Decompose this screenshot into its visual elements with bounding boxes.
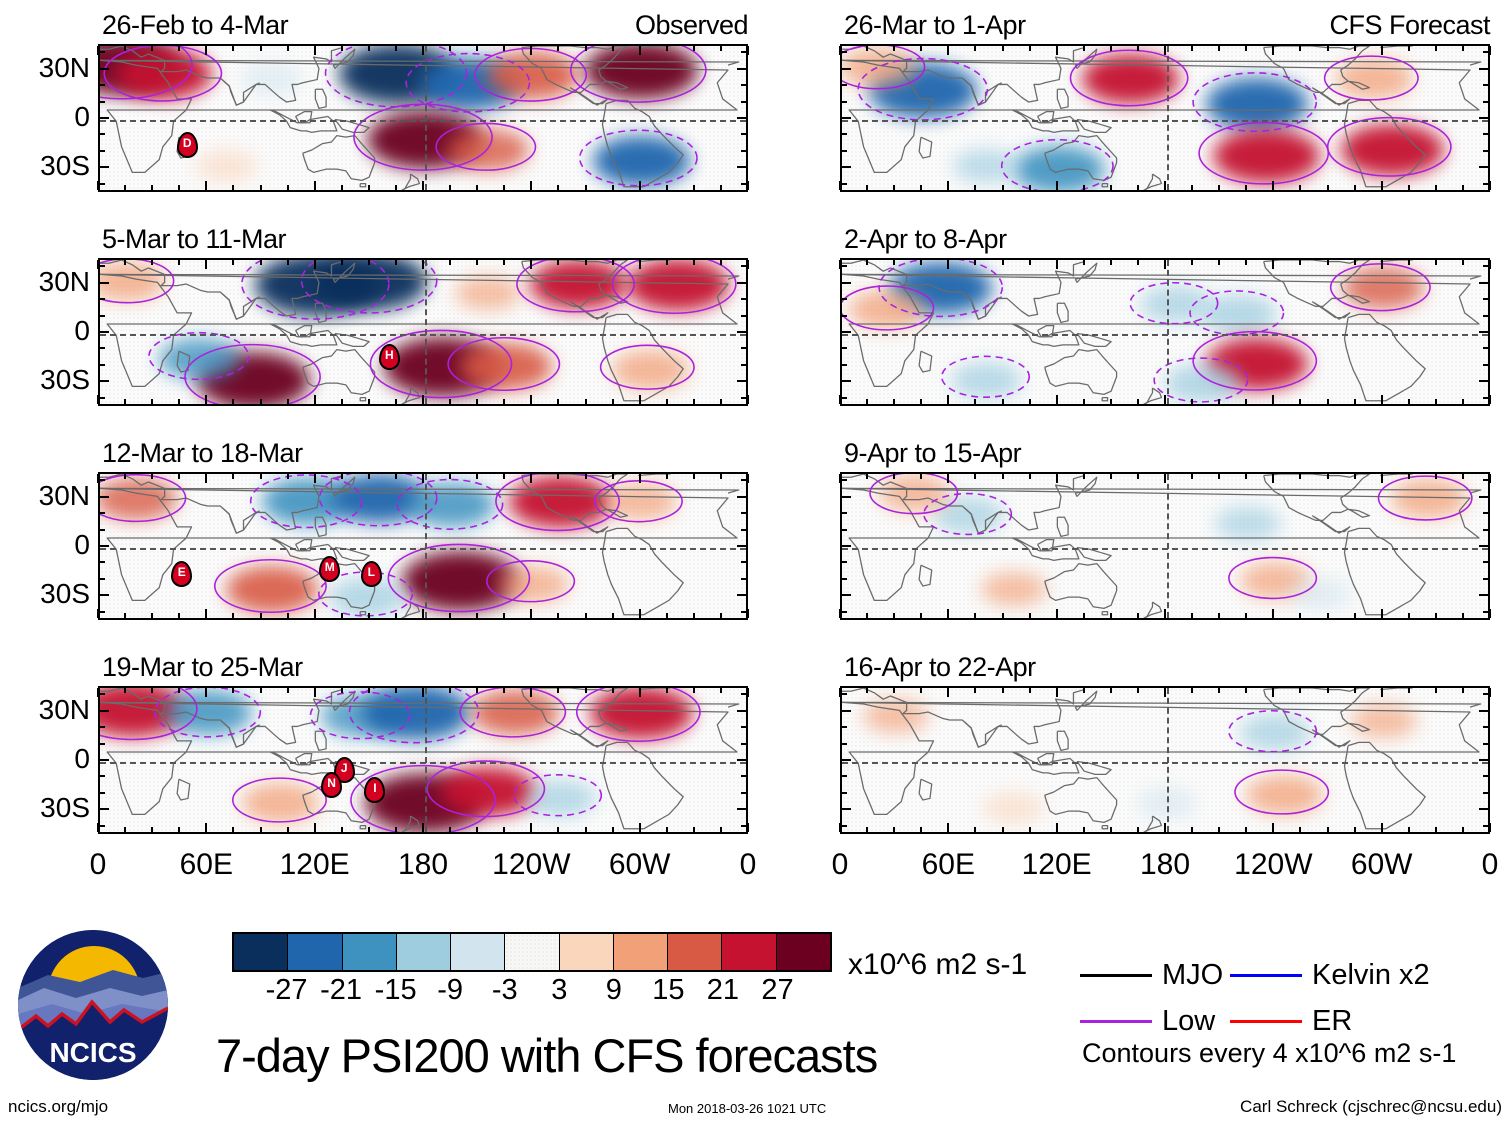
y-axis-tick [1479,380,1488,382]
y-axis-tick [100,578,105,580]
x-axis-tick [449,613,451,618]
x-axis-tick [839,823,841,832]
y-axis-tick [100,743,105,745]
x-axis-tick [920,185,922,190]
x-axis-tick [1327,399,1329,404]
x-axis-tick [1110,613,1112,618]
y-axis-tick [737,710,746,712]
x-axis-tick [893,185,895,190]
x-axis-tick [1381,474,1383,483]
x-axis-tick [612,185,614,190]
x-axis-tick [1110,688,1112,693]
x-axis-tick [151,827,153,832]
x-axis-tick [124,688,126,693]
x-axis-tick [839,395,841,404]
equator-line [842,762,1488,764]
x-axis-tick [893,474,895,479]
x-axis-tick [693,613,695,618]
x-axis-tick [1299,185,1301,190]
y-axis-tick [100,101,105,103]
map-panel[interactable]: JNI [98,686,748,834]
y-axis-tick [741,529,746,531]
colorbar-tick-label: 21 [707,974,739,1007]
x-axis-tick [1354,613,1356,618]
x-axis-tick [1327,185,1329,190]
x-axis-tick [1245,260,1247,265]
x-axis-tick [693,688,695,693]
colorbar-tick-labels: -27-21-15-9-339152127 [232,972,832,1012]
x-axis-tick [1489,823,1491,832]
x-axis-tick [666,827,668,832]
x-axis-tick [1137,399,1139,404]
x-axis-tick [747,260,749,269]
x-axis-tick [1137,688,1139,693]
x-axis-tick [666,260,668,265]
dateline [425,260,427,404]
x-axis-tick [1489,474,1491,483]
y-axis-tick [100,775,105,777]
x-axis-tick [287,474,289,479]
map-panel[interactable]: EML [98,472,748,620]
y-axis-tick [1483,84,1488,86]
page-title: 7-day PSI200 with CFS forecasts [216,1028,877,1083]
y-axis-tick [1483,693,1488,695]
x-axis-tick-label: 180 [363,848,483,882]
x-axis-tick [1299,688,1301,693]
x-axis-tick [368,399,370,404]
x-axis-tick [97,46,99,55]
legend-label-er: ER [1312,1005,1352,1038]
y-axis-tick [1483,101,1488,103]
x-axis-tick [1191,260,1193,265]
x-axis-tick [1408,260,1410,265]
x-axis-tick [395,399,397,404]
x-axis-tick [612,688,614,693]
dateline [425,688,427,832]
x-axis-tick [260,260,262,265]
map-panel[interactable]: D [98,44,748,192]
colorbar-tick-label: -21 [320,974,362,1007]
x-axis-tick [422,46,424,55]
x-axis-tick [866,613,868,618]
x-axis-tick [585,260,587,265]
x-axis-tick [720,688,722,693]
y-axis-tick [741,183,746,185]
x-axis-tick [920,613,922,618]
y-axis-tick [100,117,109,119]
colorbar-tick-label: 3 [551,974,567,1007]
y-axis-tick [1479,331,1488,333]
x-axis-tick [1218,399,1220,404]
y-axis-tick [100,726,105,728]
x-axis-tick [260,688,262,693]
map-panel[interactable]: H [98,258,748,406]
y-axis-tick [1483,479,1488,481]
x-axis-tick [693,260,695,265]
x-axis-tick [395,46,397,51]
x-axis-tick [1029,613,1031,618]
y-axis-tick [1483,775,1488,777]
x-axis-tick [287,185,289,190]
x-axis-tick [287,688,289,693]
x-axis-tick [839,260,841,269]
colorbar-swatch [505,934,559,970]
y-axis-tick [1479,68,1488,70]
y-axis-tick-label: 30N [2,694,90,726]
x-axis-tick [205,609,207,618]
x-axis-tick-label: 60W [580,848,700,882]
y-axis-tick [737,545,746,547]
x-axis-tick [693,46,695,51]
logo-artwork: NCICS [18,930,168,1080]
x-axis-tick [1218,46,1220,51]
x-axis-tick [666,46,668,51]
x-axis-tick [1327,827,1329,832]
y-axis-tick [842,84,847,86]
x-axis-tick [1489,688,1491,697]
x-axis-tick [314,260,316,269]
x-axis-tick [449,474,451,479]
x-axis-tick [1272,395,1274,404]
x-axis-tick [1408,474,1410,479]
x-axis-tick [1137,474,1139,479]
x-axis-tick [503,260,505,265]
x-axis-tick [1110,46,1112,51]
y-axis-tick [741,101,746,103]
x-axis-tick [1218,688,1220,693]
y-axis-tick [842,611,847,613]
y-axis-tick [100,825,105,827]
x-axis-tick [693,399,695,404]
x-axis-tick [1191,827,1193,832]
y-axis-tick [842,479,847,481]
x-axis-tick [1435,474,1437,479]
x-axis-tick [1327,688,1329,693]
x-axis-tick [1191,46,1193,51]
y-axis-tick [100,545,109,547]
x-axis-tick [612,260,614,265]
map-panel[interactable] [840,44,1490,192]
y-axis-tick [842,808,851,810]
y-axis-tick [1483,578,1488,580]
y-axis-tick [741,479,746,481]
panel-title: 9-Apr to 15-Apr [844,438,1021,469]
x-axis-tick [1164,688,1166,697]
y-axis-tick [842,792,847,794]
x-axis-tick [947,823,949,832]
y-axis-tick [1479,496,1488,498]
colorbar-swatch [668,934,722,970]
x-axis-tick [612,46,614,51]
x-axis-tick [1110,474,1112,479]
x-axis-tick [557,399,559,404]
equator-line [842,334,1488,336]
colorbar-tick-label: -9 [437,974,463,1007]
y-axis-tick [100,759,109,761]
x-axis-tick [1164,823,1166,832]
y-axis-tick [737,331,746,333]
y-axis-tick [842,183,847,185]
x-axis-tick [232,613,234,618]
x-axis-tick [232,827,234,832]
x-axis-tick [747,688,749,697]
panel-title: 26-Mar to 1-Apr [844,10,1026,41]
y-axis-tick [100,496,109,498]
x-axis-tick [151,688,153,693]
x-axis-tick [666,399,668,404]
x-axis-tick [1299,827,1301,832]
cyclone-marker[interactable]: I [364,777,385,803]
equator-line [100,762,746,764]
y-axis-tick [842,496,851,498]
x-axis-tick [314,688,316,697]
x-axis-tick [314,46,316,55]
x-axis-tick [260,399,262,404]
x-axis-tick [893,260,895,265]
x-axis-tick [1462,399,1464,404]
x-axis-tick [151,46,153,51]
y-axis-tick [1483,743,1488,745]
y-axis-tick [1483,265,1488,267]
x-axis-tick [178,688,180,693]
x-axis-tick [503,827,505,832]
y-axis-tick [842,298,847,300]
contour-overlay [100,260,746,404]
x-axis-tick [1272,823,1274,832]
x-axis-tick [1489,609,1491,618]
y-axis-tick [100,808,109,810]
x-axis-tick [947,474,949,483]
x-axis-tick [693,474,695,479]
x-axis-tick [449,185,451,190]
x-axis-tick [1408,399,1410,404]
panel-title: 16-Apr to 22-Apr [844,652,1036,683]
x-axis-tick [1110,260,1112,265]
panel-title: 2-Apr to 8-Apr [844,224,1007,255]
map-panel[interactable] [840,686,1490,834]
x-axis-tick [1299,46,1301,51]
map-panel[interactable] [840,258,1490,406]
footer-author: Carl Schreck (cjschrec@ncsu.edu) [1240,1097,1502,1117]
x-axis-tick [503,185,505,190]
x-axis-tick [1381,260,1383,269]
x-axis-tick [1029,185,1031,190]
x-axis-tick [476,46,478,51]
x-axis-tick [530,260,532,269]
y-axis-tick [842,51,847,53]
colorbar-swatch [343,934,397,970]
footer-left[interactable]: ncics.org/mjo [8,1097,108,1117]
x-axis-tick [151,260,153,265]
x-axis-tick [1435,827,1437,832]
x-axis-tick [1218,260,1220,265]
legend-line-low [1080,1020,1152,1023]
y-axis-tick [842,561,847,563]
x-axis-tick [747,46,749,55]
x-axis-tick [1381,609,1383,618]
y-axis-tick-label: 30S [2,578,90,610]
map-panel[interactable] [840,472,1490,620]
cyclone-label: I [366,781,383,795]
x-axis-tick [205,823,207,832]
x-axis-tick [1489,260,1491,269]
x-axis-tick [1245,46,1247,51]
x-axis-tick [341,688,343,693]
y-axis-tick [842,397,847,399]
legend-item-mjo: MJO [1080,959,1230,992]
x-axis-tick [1354,260,1356,265]
x-axis-tick [1191,185,1193,190]
x-axis-tick [612,613,614,618]
x-axis-tick [530,181,532,190]
x-axis-tick [1408,688,1410,693]
x-axis-tick [314,181,316,190]
x-axis-tick [974,474,976,479]
y-axis-tick [1483,150,1488,152]
x-axis-tick [1462,46,1464,51]
cyclone-symbol: I [364,777,385,803]
x-axis-tick [287,260,289,265]
x-axis-tick [422,688,424,697]
x-axis-tick [974,46,976,51]
cyclone-marker[interactable]: M [319,556,340,582]
x-axis-tick [893,688,895,693]
y-axis-tick [100,51,105,53]
y-axis-tick [1483,364,1488,366]
y-axis-tick [1483,298,1488,300]
y-axis-tick [100,265,105,267]
y-axis-tick [741,150,746,152]
x-axis-tick [232,688,234,693]
contour-overlay [842,46,1488,190]
cyclone-marker[interactable]: N [321,772,342,798]
x-axis-tick [974,185,976,190]
x-axis-tick [314,823,316,832]
y-axis-tick [100,529,105,531]
x-axis-tick [314,609,316,618]
cyclone-marker[interactable]: D [177,132,198,158]
y-axis-tick [741,265,746,267]
x-axis-tick [585,185,587,190]
x-axis-tick [920,46,922,51]
x-axis-tick [1245,474,1247,479]
x-axis-tick [1002,688,1004,693]
dateline [1167,688,1169,832]
x-axis-tick [1354,474,1356,479]
y-axis-tick [741,578,746,580]
x-axis-tick [1245,688,1247,693]
panel-kind-label: Observed [548,10,748,41]
legend-item-kelvin: Kelvin x2 [1230,959,1430,992]
x-axis-tick [747,395,749,404]
x-axis-tick [639,46,641,55]
x-axis-tick [395,474,397,479]
x-axis-tick [1489,395,1491,404]
cyclone-marker[interactable]: L [361,561,382,587]
y-axis-tick [1483,51,1488,53]
y-axis-tick [741,133,746,135]
y-axis-tick [842,545,851,547]
y-axis-tick [1483,529,1488,531]
contour-legend: MJO Kelvin x2 Low ER [1080,952,1500,1044]
x-axis-tick [1056,688,1058,697]
x-axis-tick [124,474,126,479]
y-axis-tick [842,331,851,333]
y-axis-tick [741,825,746,827]
x-axis-tick [449,827,451,832]
x-axis-tick [866,260,868,265]
y-axis-tick [737,282,746,284]
x-axis-tick [1299,260,1301,265]
x-axis-tick [503,46,505,51]
x-axis-tick [1056,260,1058,269]
x-axis-tick [341,260,343,265]
x-axis-tick [693,827,695,832]
x-axis-tick-label: 120E [997,848,1117,882]
y-axis-tick [1483,183,1488,185]
y-axis-tick [1479,759,1488,761]
y-axis-tick [842,825,847,827]
x-axis-tick [151,399,153,404]
x-axis-tick [974,827,976,832]
x-axis-tick-label: 60E [146,848,266,882]
x-axis-tick [1462,260,1464,265]
x-axis-tick [1056,46,1058,55]
cyclone-label: H [381,348,398,362]
x-axis-tick [260,474,262,479]
x-axis-tick [1435,688,1437,693]
cyclone-symbol: N [321,772,342,798]
cyclone-symbol: M [319,556,340,582]
y-axis-tick [741,315,746,317]
x-axis-tick [1435,613,1437,618]
y-axis-tick [100,792,105,794]
panel-kind-label: CFS Forecast [1290,10,1490,41]
x-axis-tick [1435,399,1437,404]
y-axis-tick [842,529,847,531]
x-axis-tick [341,185,343,190]
x-axis-tick [1272,609,1274,618]
cyclone-symbol: D [177,132,198,158]
x-axis-tick [395,260,397,265]
x-axis-tick [1083,185,1085,190]
x-axis-tick [1083,827,1085,832]
x-axis-tick [747,181,749,190]
x-axis-tick [1029,46,1031,51]
y-axis-tick [842,512,847,514]
x-axis-tick [476,474,478,479]
y-axis-tick [842,347,847,349]
y-axis-tick [100,397,105,399]
x-axis-tick [1272,46,1274,55]
y-axis-tick [842,693,847,695]
x-axis-tick [1002,46,1004,51]
cyclone-marker[interactable]: E [171,561,192,587]
x-axis-tick [639,395,641,404]
dateline [425,46,427,190]
y-axis-tick [842,265,847,267]
x-axis-tick [747,609,749,618]
x-axis-tick [1191,613,1193,618]
cyclone-label: M [321,560,338,574]
cyclone-marker[interactable]: H [379,344,400,370]
x-axis-tick [866,827,868,832]
x-axis-tick [1083,474,1085,479]
x-axis-tick [97,395,99,404]
x-axis-tick [1056,474,1058,483]
x-axis-tick [97,688,99,697]
x-axis-tick [666,688,668,693]
